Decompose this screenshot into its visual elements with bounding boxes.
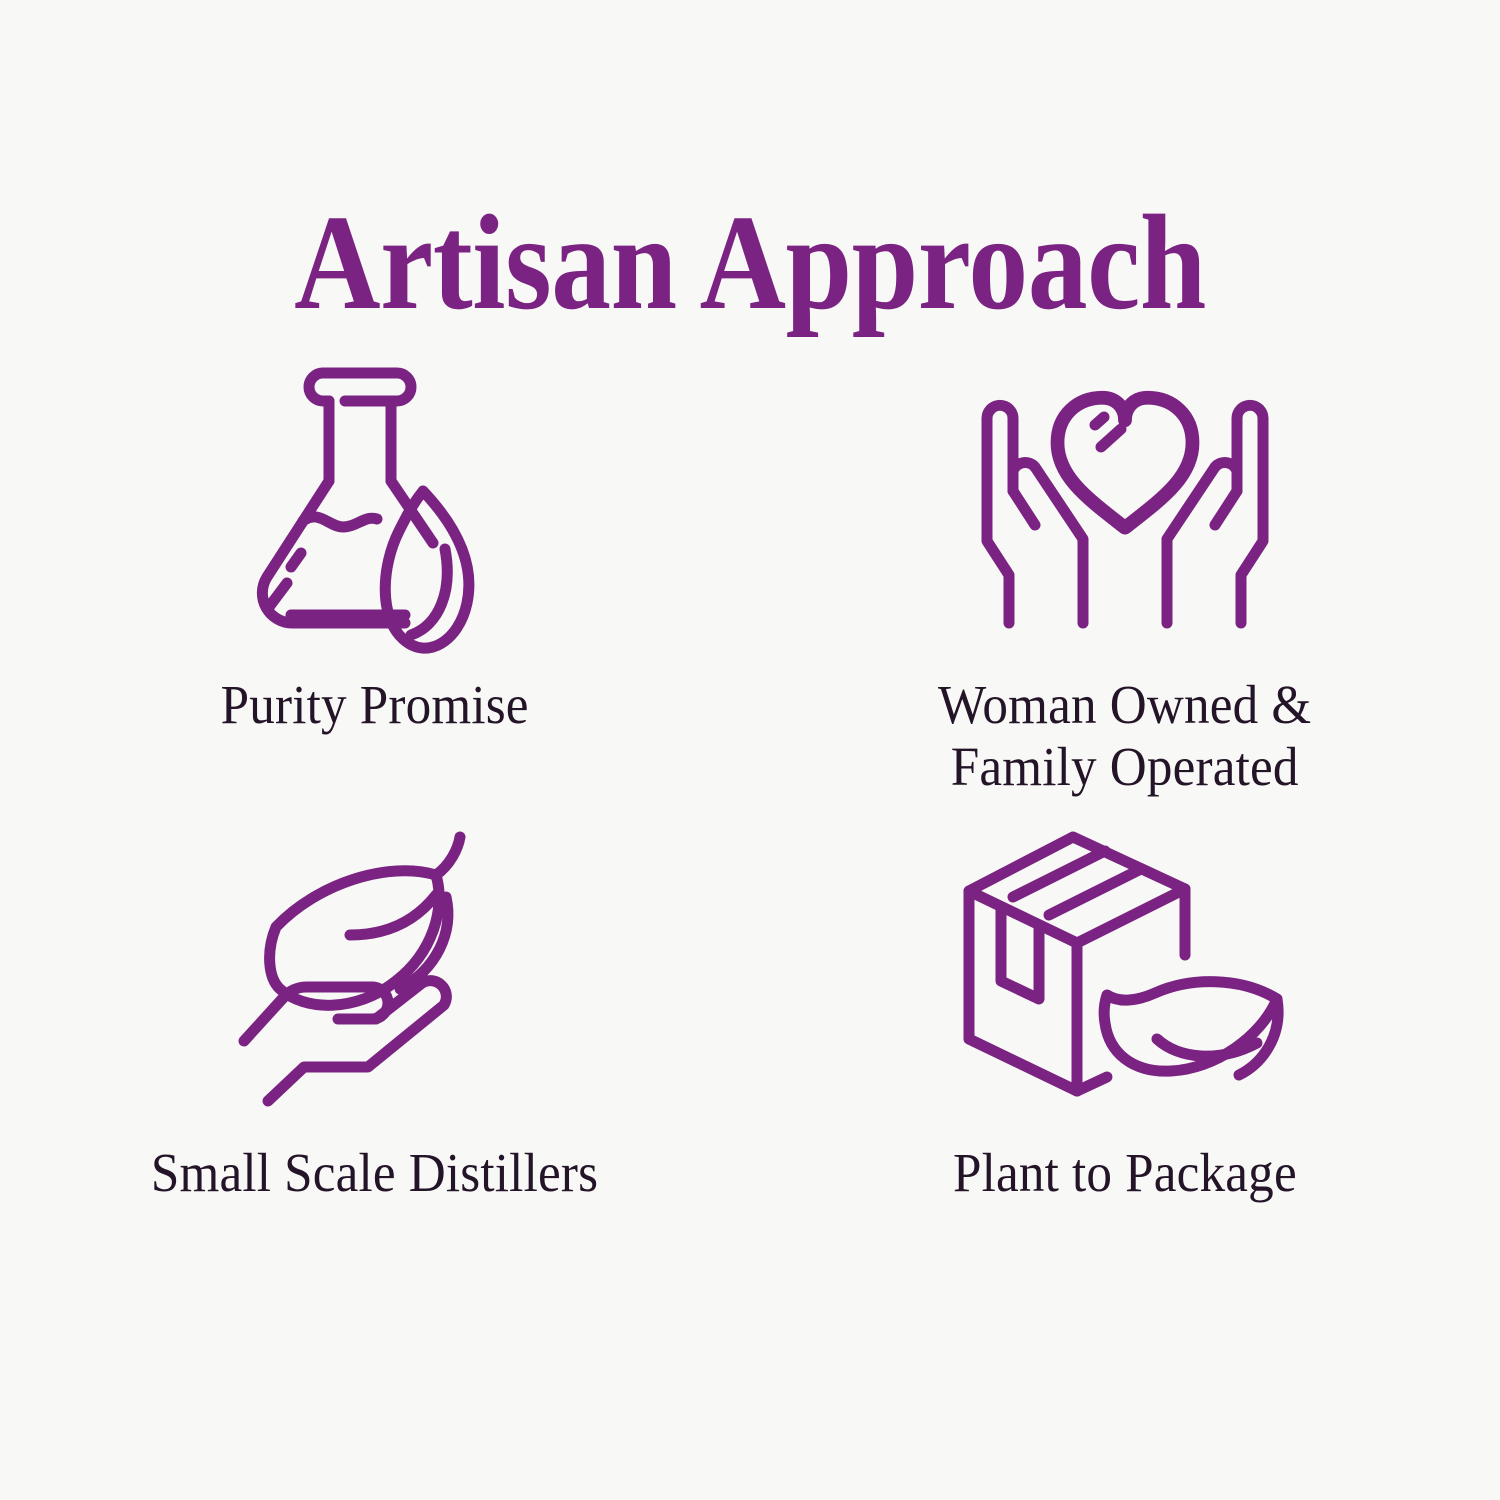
- artisan-approach-panel: Artisan Approach: [0, 0, 1500, 1500]
- feature-label-line1: Small Scale Distillers: [151, 1142, 598, 1203]
- page-title: Artisan Approach: [294, 195, 1206, 331]
- package-box-leaf-icon-svg: [955, 823, 1295, 1103]
- hands-holding-heart-icon: [965, 348, 1285, 648]
- package-box-leaf-icon: [955, 818, 1295, 1108]
- feature-label-plant-to-package: Plant to Package: [953, 1142, 1297, 1204]
- feature-item-woman-owned: Woman Owned & Family Operated: [750, 348, 1500, 818]
- flask-leaf-icon-svg: [245, 353, 505, 643]
- feature-label-purity-promise: Purity Promise: [221, 674, 529, 736]
- feature-label-line2: Family Operated: [938, 736, 1311, 798]
- feature-item-plant-to-package: Plant to Package: [750, 818, 1500, 1288]
- feature-item-small-scale-distillers: Small Scale Distillers: [0, 818, 750, 1288]
- flask-leaf-icon: [245, 348, 505, 648]
- feature-item-purity-promise: Purity Promise: [0, 348, 750, 818]
- leaf-in-hand-icon-svg: [240, 823, 510, 1103]
- leaf-in-hand-icon: [240, 818, 510, 1108]
- feature-label-woman-owned: Woman Owned & Family Operated: [938, 674, 1311, 797]
- feature-label-small-scale-distillers: Small Scale Distillers: [151, 1142, 598, 1204]
- feature-label-line1: Plant to Package: [953, 1142, 1297, 1203]
- feature-label-line1: Woman Owned &: [938, 674, 1311, 735]
- feature-grid: Purity Promise: [0, 348, 1500, 1288]
- hands-holding-heart-icon-svg: [965, 363, 1285, 633]
- feature-label-line1: Purity Promise: [221, 674, 529, 735]
